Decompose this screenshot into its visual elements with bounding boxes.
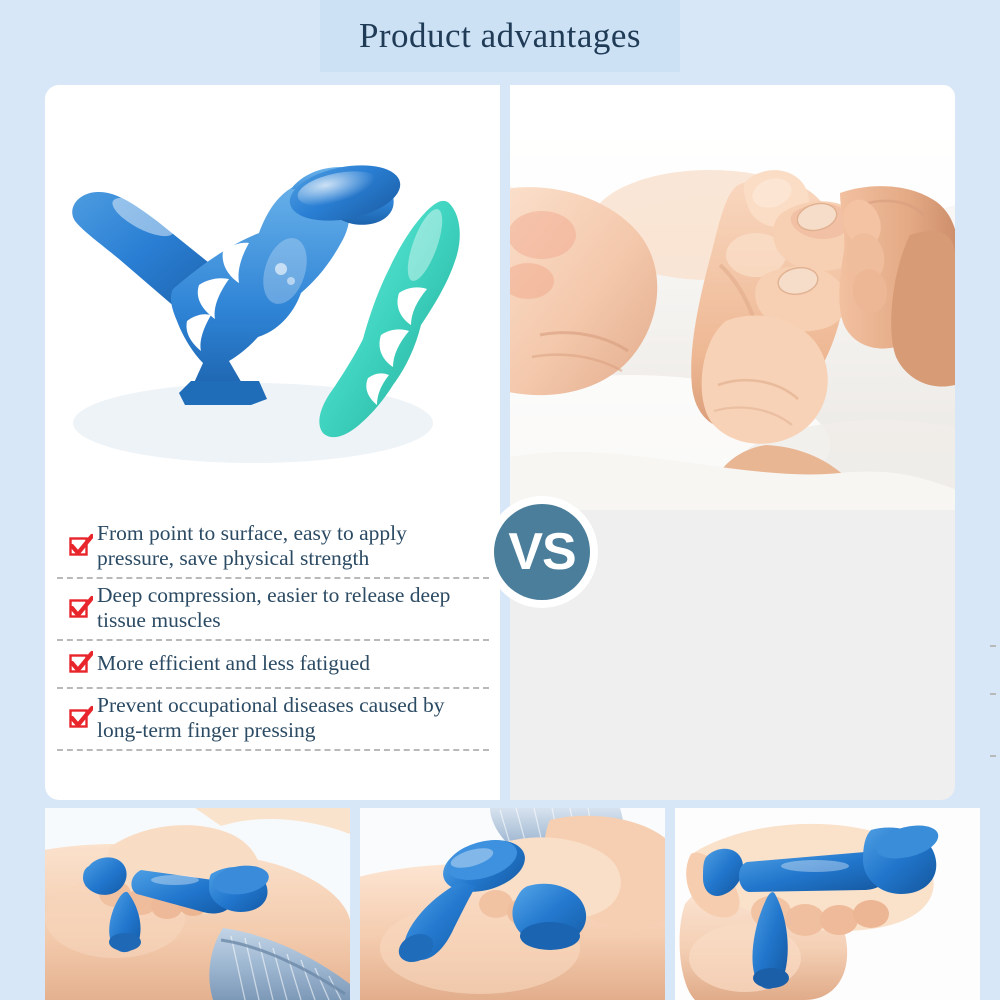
page-title: Product advantages (359, 16, 641, 56)
foot-tool-illustration (675, 808, 980, 1000)
check-box-icon (63, 595, 97, 621)
product-tools-photo (53, 93, 492, 513)
shoulder-massage-illustration (360, 808, 665, 1000)
list-item-label: Deep compression, easier to release deep… (97, 583, 489, 633)
list-item: Treatment efficiency is not high (990, 647, 1000, 695)
list-item: More efficient and less fatigued (57, 641, 489, 689)
list-item: Prevent occupational diseases caused by … (57, 689, 489, 751)
prohibition-icon (996, 710, 1000, 738)
vs-circle: VS (494, 504, 590, 600)
check-box-icon (63, 705, 97, 731)
vs-label: VS (508, 526, 575, 578)
usage-photo-back (45, 808, 350, 1000)
disadvantages-list: Exhausted, not easy to release deep musc… (990, 585, 1000, 757)
list-item-label: More efficient and less fatigued (97, 651, 370, 676)
prohibition-icon (996, 600, 1000, 628)
advantages-column: From point to surface, easy to apply pre… (45, 85, 500, 800)
back-massage-illustration (45, 808, 350, 1000)
massage-tool-illustration (53, 93, 492, 513)
usage-photo-foot (675, 808, 980, 1000)
disadvantages-column: Exhausted, not easy to release deep musc… (510, 85, 955, 800)
list-item: Exhausted, not easy to release deep musc… (990, 585, 1000, 647)
list-item-label: Prevent occupational diseases caused by … (97, 693, 489, 743)
advantages-list: From point to surface, easy to apply pre… (57, 517, 489, 751)
list-item: Deep compression, easier to release deep… (57, 579, 489, 641)
usage-photo-shoulder (360, 808, 665, 1000)
list-item: Long-term finger pressure release can ea… (990, 695, 1000, 757)
check-box-icon (63, 650, 97, 676)
check-box-icon (63, 533, 97, 559)
list-item: From point to surface, easy to apply pre… (57, 517, 489, 579)
usage-photo-strip (45, 808, 1000, 1000)
comparison-panel: From point to surface, easy to apply pre… (45, 85, 955, 800)
vs-badge: VS (486, 496, 598, 608)
list-item-label: From point to surface, easy to apply pre… (97, 521, 489, 571)
foot-massage-illustration (510, 85, 955, 510)
foot-massage-photo (510, 85, 955, 510)
prohibition-icon (996, 655, 1000, 683)
title-band: Product advantages (320, 0, 680, 72)
